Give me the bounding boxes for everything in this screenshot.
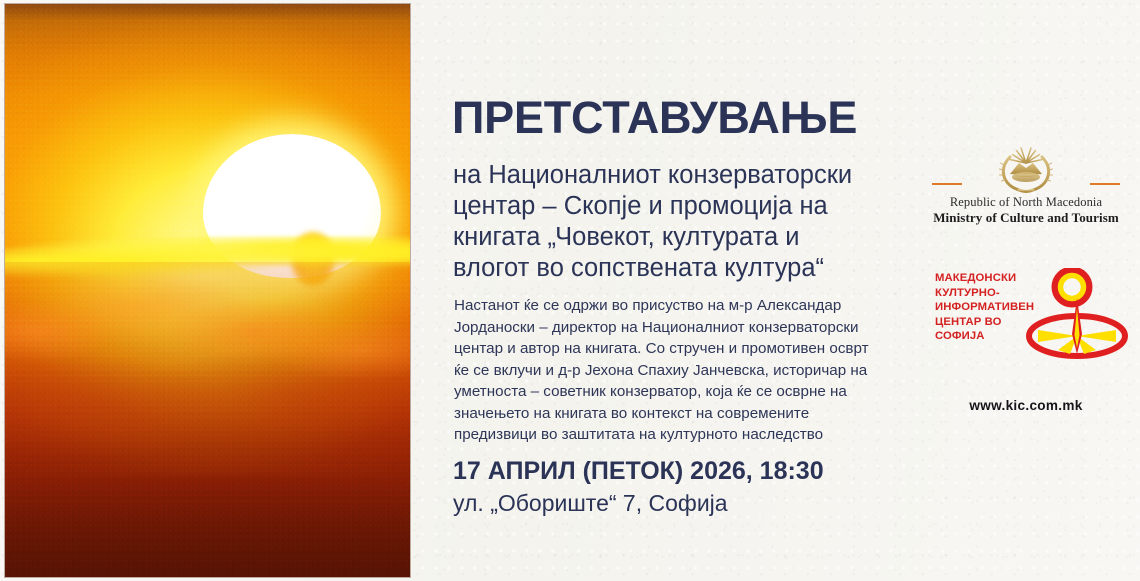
description-line-3: центар и автор на книгата. Со стручен и …	[454, 338, 906, 360]
photo-film-grain	[5, 4, 410, 577]
sunset-photograph	[5, 4, 410, 577]
subtitle-block: на Националниот конзерваторски центар – …	[453, 160, 905, 284]
divider-rule-left	[932, 183, 962, 185]
kic-lockup: МАКЕДОНСКИ КУЛТУРНО- ИНФОРМАТИВЕН ЦЕНТАР…	[922, 268, 1140, 368]
poster-text-column: ПРЕТСТАВУВАЊЕ на Националниот конзервато…	[452, 0, 912, 581]
ministry-lockup: Republic of North Macedonia Ministry of …	[912, 143, 1140, 226]
logo-column: Republic of North Macedonia Ministry of …	[912, 0, 1140, 581]
subtitle-line-3: книгата „Човекот, културата и	[453, 222, 905, 253]
subtitle-line-2: центар – Скопје и промоција на	[453, 191, 905, 222]
description-line-6: значењето на книгата во контекст на совр…	[454, 403, 906, 425]
description-line-2: Јорданоски – директор на Националниот ко…	[454, 317, 906, 339]
divider-rule-right	[1090, 183, 1120, 185]
subtitle-line-1: на Националниот конзерваторски	[453, 160, 905, 191]
ministry-country-label: Republic of North Macedonia	[912, 195, 1140, 210]
description-line-5: уметноста – советник конзерватор, која ќ…	[454, 381, 906, 403]
page-title: ПРЕТСТАВУВАЊЕ	[452, 92, 857, 144]
description-line-1: Настанот ќе се одржи во присуство на м-р…	[454, 295, 906, 317]
event-poster: ПРЕТСТАВУВАЊЕ на Националниот конзервато…	[0, 0, 1140, 581]
kic-sun-emblem-icon	[1022, 268, 1138, 368]
coat-of-arms-north-macedonia-icon	[997, 143, 1055, 193]
kic-website-url: www.kic.com.mk	[912, 398, 1140, 413]
event-date-time: 17 АПРИЛ (ПЕТОК) 2026, 18:30	[453, 455, 824, 487]
description-line-7: предизвици во заштитата на културното на…	[454, 424, 906, 446]
description-line-4: ќе се вклучи и д-р Јехона Спахиу Јанчевс…	[454, 360, 906, 382]
description-paragraph: Настанот ќе се одржи во присуство на м-р…	[454, 295, 906, 446]
subtitle-line-4: влогот во сопствената култура“	[453, 253, 905, 284]
event-address: ул. „Обориште“ 7, Софија	[453, 487, 728, 519]
ministry-name-label: Ministry of Culture and Tourism	[912, 210, 1140, 226]
